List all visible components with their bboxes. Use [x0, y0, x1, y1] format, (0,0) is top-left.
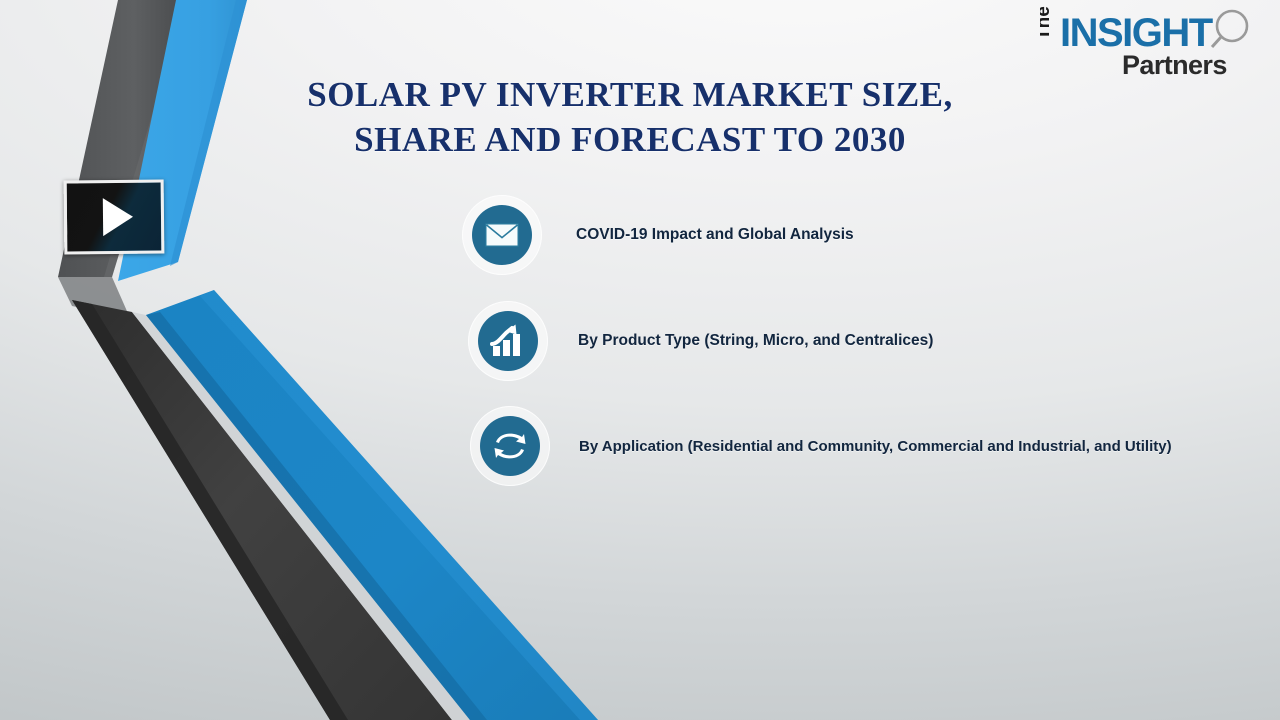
chevron-lower-gray-edge: [72, 300, 348, 720]
refresh-wrench-icon: [491, 430, 529, 462]
bullet-icon-circle: [472, 205, 532, 265]
chevron-vertex-gray-shadow: [58, 277, 130, 318]
title-line-1: SOLAR PV INVERTER MARKET SIZE,: [230, 72, 1030, 117]
logo-word-partners: Partners: [1122, 50, 1227, 80]
bullet-icon-ring: [470, 406, 550, 486]
play-triangle-icon: [103, 198, 133, 236]
magnifier-icon: [1212, 11, 1247, 47]
bullet-icon-circle: [478, 311, 538, 371]
title-line-2: SHARE AND FORECAST TO 2030: [230, 117, 1030, 162]
bullet-icon-ring: [462, 195, 542, 275]
bar-chart-growth-icon: [490, 324, 526, 358]
bullet-icon-ring: [468, 301, 548, 381]
bullet-icon-circle: [480, 416, 540, 476]
list-item[interactable]: By Application (Residential and Communit…: [470, 403, 1172, 489]
chevron-lower-separator: [132, 312, 470, 720]
list-item[interactable]: COVID-19 Impact and Global Analysis: [462, 192, 854, 278]
video-play-button[interactable]: [64, 179, 165, 254]
presentation-slide: The INSIGHT Partners SOLAR PV INVERTER M…: [0, 0, 1280, 720]
list-item-label: COVID-19 Impact and Global Analysis: [576, 226, 854, 244]
chevron-lower-blue-edge: [146, 312, 487, 720]
list-item-label: By Application (Residential and Communit…: [579, 438, 1172, 455]
page-title: SOLAR PV INVERTER MARKET SIZE, SHARE AND…: [230, 72, 1030, 162]
list-item[interactable]: By Product Type (String, Micro, and Cent…: [468, 298, 933, 384]
insight-partners-logo[interactable]: The INSIGHT Partners: [1040, 6, 1266, 82]
list-item-label: By Product Type (String, Micro, and Cent…: [578, 332, 933, 350]
logo-word-the: The: [1040, 6, 1054, 40]
envelope-icon: [485, 223, 519, 247]
logo-word-insight: INSIGHT: [1060, 11, 1213, 55]
chevron-lower-gray-band: [72, 300, 452, 720]
